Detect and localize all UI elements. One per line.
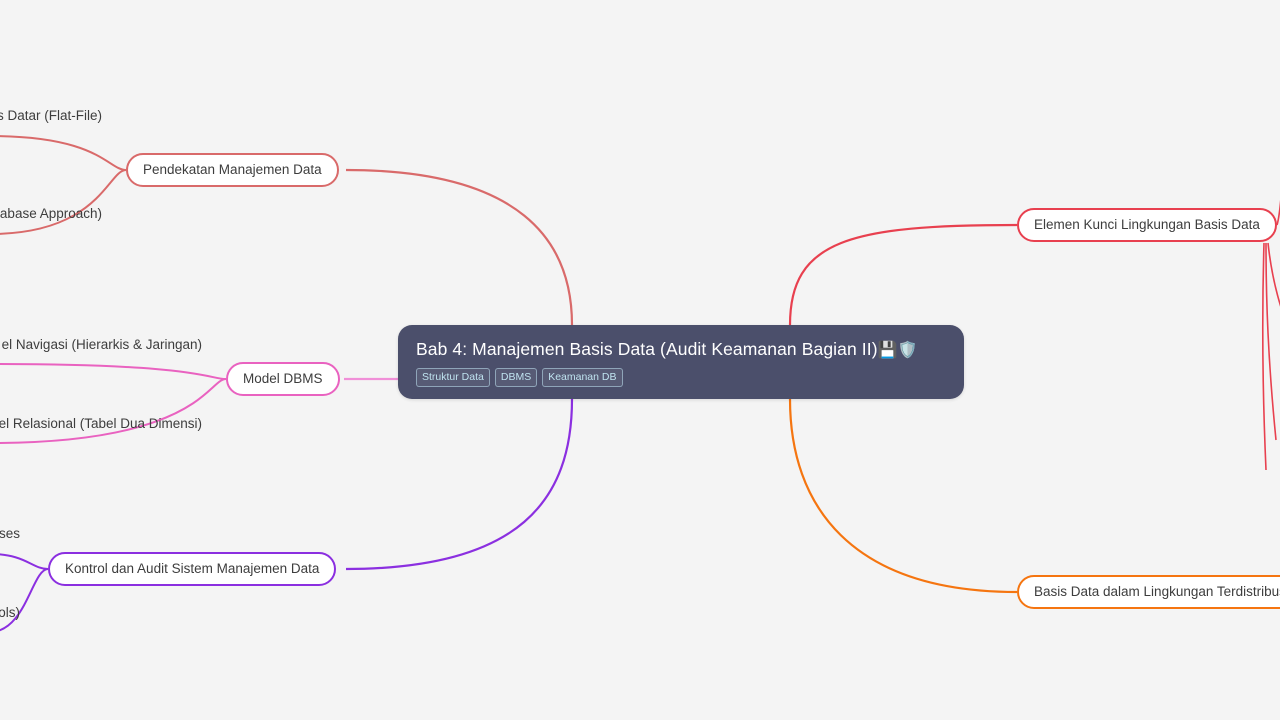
edge-model-dbms-child-1 [0, 364, 226, 379]
tag-struktur-data[interactable]: Struktur Data [416, 368, 490, 387]
shield-icon: 🛡️ [898, 340, 918, 359]
edge-elemen-kunci [790, 225, 1017, 325]
tag-keamanan-db[interactable]: Keamanan DB [542, 368, 622, 387]
floppy-disk-icon: 💾 [878, 340, 898, 359]
root-node[interactable]: Bab 4: Manajemen Basis Data (Audit Keama… [398, 325, 964, 399]
leaf-label: el Relasional (Tabel Dua Dimensi) [0, 416, 202, 432]
leaf-label: ols) [0, 605, 20, 621]
leaf-label: s Datar (Flat-File) [0, 108, 102, 124]
edge-elemen-kunci-child-3 [1266, 243, 1276, 440]
edge-elemen-kunci-child-4 [1263, 243, 1266, 470]
edge-elemen-kunci-child-2 [1268, 243, 1280, 348]
root-title-text: Bab 4: Manajemen Basis Data (Audit Keama… [416, 339, 878, 359]
branch-node-kontrol-dan-audit-sistem-manajemen-data[interactable]: Kontrol dan Audit Sistem Manajemen Data [48, 552, 336, 586]
leaf-label: abase Approach) [0, 206, 102, 222]
root-title: Bab 4: Manajemen Basis Data (Audit Keama… [416, 338, 946, 361]
tag-dbms[interactable]: DBMS [495, 368, 537, 387]
branch-node-model-dbms[interactable]: Model DBMS [226, 362, 340, 396]
edge-pendekatan-child-2 [0, 170, 126, 234]
edge-kontrol-dan-audit [346, 399, 572, 569]
edge-kontrol-child-2 [0, 569, 48, 632]
mindmap-canvas: s Datar (Flat-File) abase Approach) el N… [0, 0, 1280, 720]
leaf-label: ses [0, 526, 20, 542]
edge-basis-data-terdistribusi [790, 399, 1017, 592]
branch-node-basis-data-dalam-lingkungan-terdistribusi[interactable]: Basis Data dalam Lingkungan Terdistribus… [1017, 575, 1280, 609]
edge-model-dbms-child-2 [0, 379, 226, 443]
branch-node-pendekatan-manajemen-data[interactable]: Pendekatan Manajemen Data [126, 153, 339, 187]
leaf-label: el Navigasi (Hierarkis & Jaringan) [0, 337, 202, 353]
edge-pendekatan-child-1 [0, 136, 126, 170]
edge-kontrol-child-1 [0, 554, 48, 569]
branch-node-elemen-kunci-lingkungan-basis-data[interactable]: Elemen Kunci Lingkungan Basis Data [1017, 208, 1277, 242]
root-tag-row: Struktur Data DBMS Keamanan DB [416, 368, 946, 387]
edge-pendekatan-manajemen-data [346, 170, 572, 325]
